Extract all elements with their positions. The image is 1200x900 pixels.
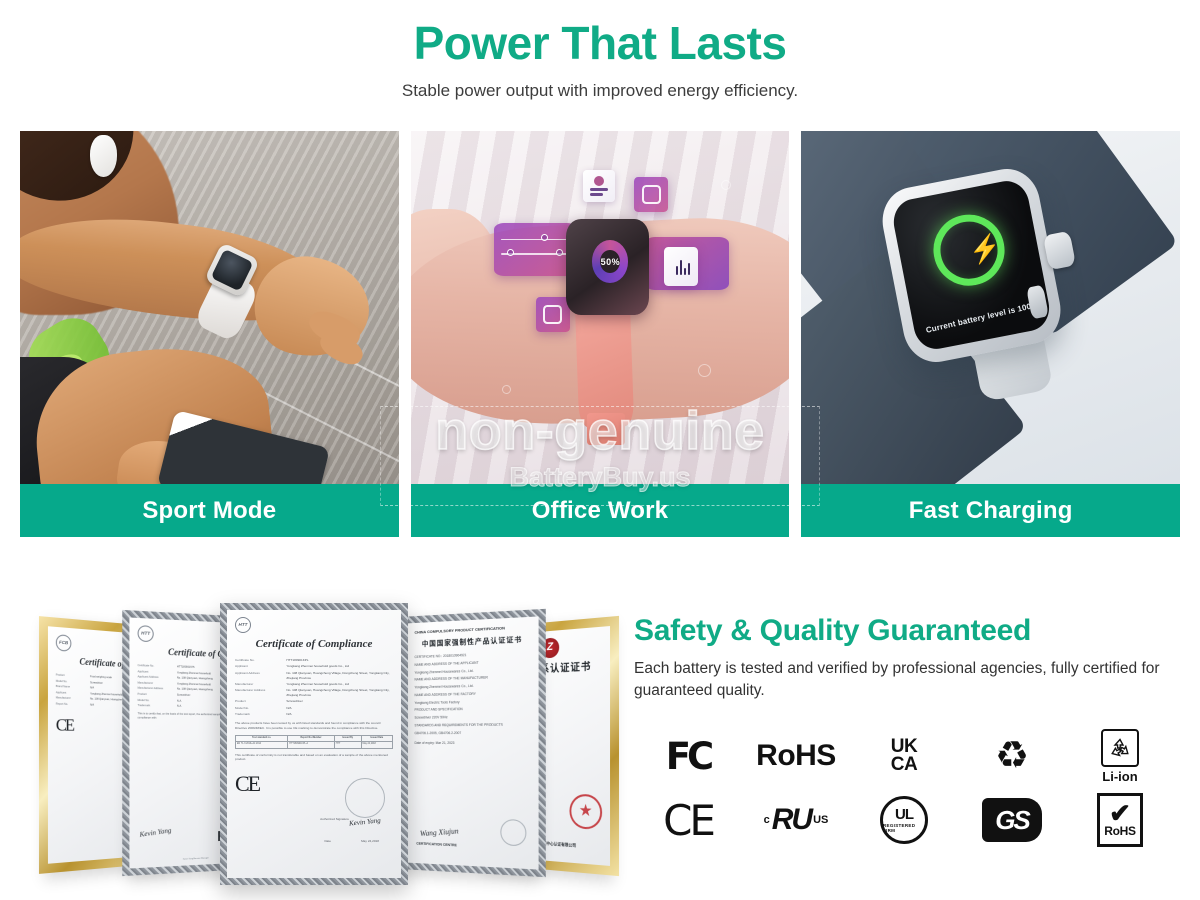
field-key: Product (56, 673, 87, 679)
field-key: Applicant (138, 670, 173, 675)
badge-row-1: FC RoHS UK CA ♻ (634, 724, 1174, 788)
recycle-outline-icon (1101, 729, 1139, 767)
smartwatch-screen: ⚡ Current battery level is 100% (890, 178, 1053, 353)
cert-line: PRODUCT AND SPECIFICATION (414, 706, 530, 713)
text-line (590, 188, 608, 191)
recycle-badge: ♻ (958, 724, 1066, 788)
table-cell: EN 71-3:2013+A1:2014 (236, 742, 288, 749)
signature: Kevin Yang (139, 825, 172, 841)
feature-card-sport-mode[interactable]: Sport Mode (20, 131, 399, 537)
certification-centre-label: CERTIFICATION CENTRE (416, 842, 457, 849)
gear-icon (543, 305, 562, 325)
field-key: Manufacturer (56, 697, 87, 702)
fast-charging-photo: ⚡ Current battery level is 100% (801, 131, 1180, 484)
field-key: Applicant Address (235, 671, 282, 681)
widget-tile-sliders (494, 223, 577, 276)
field-key: Certificate No. (235, 658, 282, 663)
smartwatch-case: ⚡ Current battery level is 100% (877, 163, 1067, 367)
certificate-3-title: Certificate of Compliance (235, 636, 393, 653)
field-key: Report No. (56, 703, 87, 708)
cert-line: Date of expiry: Mar 21, 2023 (414, 741, 530, 746)
field-key: Certificate No. (138, 664, 173, 669)
certificate-3-content: HTT Certificate of Compliance Certificat… (227, 610, 401, 878)
certificate-collage: FCB Certificate of C ProductFood weighin… (14, 600, 624, 890)
field-value: Screwdriver (286, 699, 390, 704)
widget-tile-chart (664, 247, 698, 286)
date-label: Date (324, 839, 331, 844)
cert-line: Yongkang Zhenmei Housewares Co., Ltd. (414, 683, 530, 691)
cul-suffix: US (813, 814, 828, 826)
page-subtitle: Stable power output with improved energy… (0, 81, 1200, 101)
field-key: Manufacturer Address (138, 687, 173, 692)
field-key: Model No. (235, 706, 282, 711)
feature-card-fast-charging[interactable]: ⚡ Current battery level is 100% Fast Cha… (801, 131, 1180, 537)
slider-knob (556, 249, 563, 256)
field-row: ProductScrewdriver (235, 699, 393, 704)
field-value: Yongkang Zhenmei household goods Co., Lt… (286, 664, 390, 669)
bar-chart-icon (673, 256, 691, 275)
cert-line: Yongkang Electric Tools Factory (414, 699, 530, 706)
fcb-logo: FCB (56, 634, 72, 652)
round-seal (345, 778, 385, 818)
field-key: Brand Name (56, 685, 87, 690)
cert-line: GB4706.1-2005, GB4706.2-2007 (414, 730, 530, 736)
ul-sublabel: REGISTERED FIRM (883, 823, 925, 833)
recycle-icon: ♻ (995, 737, 1029, 775)
date-value: May 24,2018 (361, 839, 379, 844)
card-caption-office-work: Office Work (411, 484, 790, 537)
field-key: Model No. (138, 698, 173, 703)
li-ion-label: Li-ion (1102, 769, 1137, 784)
round-seal (500, 819, 526, 846)
li-ion-badge: Li-ion (1066, 724, 1174, 788)
cert-line: STANDARDS AND REQUIREMENTS FOR THE PRODU… (414, 722, 530, 728)
table-row: EN 71-3:2013+A1:2014 HTT180901KPL-A HTT … (236, 742, 393, 749)
field-row: Applicant AddressNo. 108 Qianyuan, Huang… (235, 671, 393, 681)
ce-badge: CE (634, 788, 742, 852)
certificate-3-paragraph: The above products have been tested by u… (235, 721, 393, 731)
field-key: Applicant (235, 664, 282, 669)
field-key: Product (235, 699, 282, 704)
field-key: Model No. (56, 679, 87, 684)
page-header: Power That Lasts Stable power output wit… (0, 0, 1200, 101)
slider-knob (541, 234, 548, 241)
checklist-icon (642, 185, 661, 205)
cert-line: NAME AND ADDRESS OF THE FACTORY (414, 691, 530, 699)
field-value: No. 108 Qianyuan, Huangcheng Village, Do… (286, 671, 390, 681)
earbud-icon (90, 135, 117, 177)
field-value: Yongkang Zhenmei household goods Co., Lt… (286, 682, 390, 687)
cul-prefix: c (764, 814, 770, 826)
promo-page: Power That Lasts Stable power output wit… (0, 0, 1200, 900)
field-key: Trademark (235, 712, 282, 717)
page-title: Power That Lasts (0, 18, 1200, 69)
rohs-badge: RoHS (742, 724, 850, 788)
badge-row-2: CE c RU US UL REGISTERED FIRM GS (634, 788, 1174, 852)
certificate-4-title: CHINA COMPULSORY PRODUCT CERTIFICATION (414, 624, 530, 636)
person-icon (594, 176, 604, 186)
widget-tile-contact (583, 170, 615, 202)
sport-mode-photo (20, 131, 399, 484)
cert-line: NAME AND ADDRESS OF THE MANUFACTURER (414, 675, 530, 683)
field-row: ManufacturerYongkang Zhenmei household g… (235, 682, 393, 687)
table-cell: HTT180901KPL-A (288, 742, 334, 749)
certificate-4-content: CHINA COMPULSORY PRODUCT CERTIFICATION 中… (407, 616, 538, 869)
certificate-4-cn-title: 中国国家强制性产品认证证书 (414, 634, 530, 650)
office-work-photo: 50% (411, 131, 790, 484)
feature-card-row: Sport Mode (20, 131, 1180, 537)
certification-badges: FC RoHS UK CA ♻ (634, 724, 1174, 852)
field-value: No. 108 Qianyuan, Huangcheng Village, Do… (286, 688, 390, 698)
cert-line: Screwdriver 220V 50Hz (414, 714, 530, 721)
table-cell: May 24,2018 (361, 742, 392, 749)
htt-logo: HTT (235, 617, 251, 633)
authorized-signature-label: Authorized Signature (320, 817, 349, 822)
field-key: Applicant (56, 691, 87, 696)
feature-card-office-work[interactable]: 50% Office Work (411, 131, 790, 537)
watch-band-tail (587, 413, 625, 445)
certificate-3-paragraph-2: This certificate of conformity is not tr… (235, 753, 393, 763)
field-row: ApplicantYongkang Zhenmei household good… (235, 664, 393, 669)
field-key: Trademark (138, 704, 173, 709)
fcc-badge: FC (634, 724, 742, 788)
battery-percent-label: 50% (601, 257, 621, 267)
gs-badge: GS (958, 788, 1066, 852)
certificate-3: HTT Certificate of Compliance Certificat… (220, 603, 408, 885)
battery-ring: 50% (592, 240, 628, 282)
ukca-bottom: CA (891, 756, 917, 775)
bokeh-circle (502, 385, 511, 394)
card-caption-sport-mode: Sport Mode (20, 484, 399, 537)
field-value: HTT180901KPL (286, 658, 390, 663)
rohs-check-badge: ✔ RoHS (1066, 788, 1174, 852)
safety-title: Safety & Quality Guaranteed (634, 614, 1174, 649)
widget-tile-settings (536, 297, 570, 332)
field-key: Manufacturer Address (235, 688, 282, 698)
ul-registered-badge: UL REGISTERED FIRM (850, 788, 958, 852)
field-key: Applicant Address (138, 675, 173, 680)
rohs-check-label: RoHS (1104, 824, 1135, 838)
certificate-3-fields: Certificate No.HTT180901KPL ApplicantYon… (235, 658, 393, 717)
certificate-3-table: Test standard no. Report No./Number Issu… (235, 735, 393, 749)
safety-description: Each battery is tested and verified by p… (634, 658, 1174, 703)
field-key: Manufacturer (235, 682, 282, 687)
ul-recognized-mark: RU (772, 803, 811, 837)
checkmark-icon: ✔ (1109, 803, 1131, 824)
widget-tile-checklist (634, 177, 668, 212)
cul-us-badge: c RU US (742, 788, 850, 852)
watch-band-pink (575, 300, 634, 429)
field-row: Manufacturer AddressNo. 108 Qianyuan, Hu… (235, 688, 393, 698)
ukca-badge: UK CA (850, 724, 958, 788)
field-row: Certificate No.HTT180901KPL (235, 658, 393, 663)
field-key: Product (138, 693, 173, 698)
field-value: N/A (286, 706, 390, 711)
certificate-4: CHINA COMPULSORY PRODUCT CERTIFICATION 中… (401, 609, 546, 877)
charging-ring: ⚡ (927, 209, 1010, 292)
field-value: N/A (286, 712, 390, 717)
table-cell: HTT (334, 742, 361, 749)
field-key: Manufacturer (138, 681, 173, 686)
signature: Wang Xiujun (419, 825, 459, 840)
field-row: Model No.N/A (235, 706, 393, 711)
card-caption-fast-charging: Fast Charging (801, 484, 1180, 537)
ul-label: UL (895, 807, 913, 822)
safety-section: Safety & Quality Guaranteed Each battery… (634, 614, 1174, 852)
text-line (590, 193, 603, 196)
gs-label: GS (982, 798, 1042, 842)
red-star-seal: ★ (569, 794, 602, 830)
slider-track (501, 239, 571, 241)
htt-logo: HTT (138, 625, 154, 642)
slider-knob (507, 249, 514, 256)
field-row: TrademarkN/A (235, 712, 393, 717)
